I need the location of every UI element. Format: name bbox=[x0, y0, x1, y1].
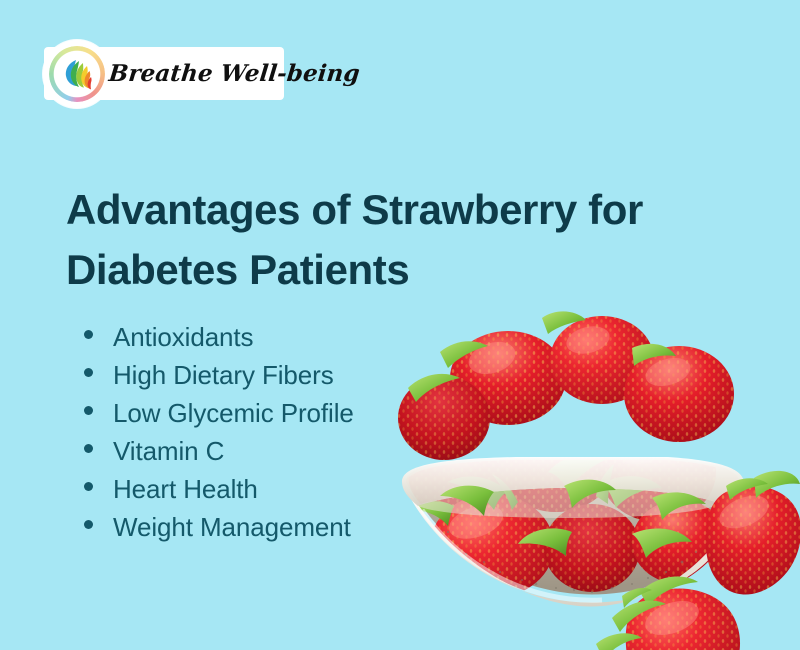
page-title-line-2: Diabetes Patients bbox=[66, 240, 726, 300]
bullet-dot-icon bbox=[84, 330, 93, 339]
page-title-line-1: Advantages of Strawberry for bbox=[66, 180, 726, 240]
list-item-label: Weight Management bbox=[113, 512, 351, 543]
logo-badge bbox=[43, 40, 111, 108]
strawberry-cluster-back bbox=[398, 316, 734, 460]
list-item: Weight Management bbox=[84, 512, 354, 550]
infographic-poster: Breathe Well-being Advantages of Strawbe… bbox=[0, 0, 800, 650]
page-title: Advantages of Strawberry for Diabetes Pa… bbox=[66, 180, 726, 300]
list-item: Vitamin C bbox=[84, 436, 354, 474]
bullet-dot-icon bbox=[84, 368, 93, 377]
list-item: High Dietary Fibers bbox=[84, 360, 354, 398]
bullet-dot-icon bbox=[84, 520, 93, 529]
multicolor-petal-icon bbox=[60, 57, 94, 91]
bullet-dot-icon bbox=[84, 444, 93, 453]
list-item-label: Low Glycemic Profile bbox=[113, 398, 354, 429]
list-item-label: High Dietary Fibers bbox=[113, 360, 334, 391]
list-item-label: Antioxidants bbox=[113, 322, 253, 353]
bowl-of-strawberries-photo bbox=[396, 296, 800, 650]
list-item: Heart Health bbox=[84, 474, 354, 512]
logo-brand-text: Breathe Well-being bbox=[106, 49, 287, 97]
list-item: Low Glycemic Profile bbox=[84, 398, 354, 436]
bullet-dot-icon bbox=[84, 482, 93, 491]
benefits-list: Antioxidants High Dietary Fibers Low Gly… bbox=[84, 322, 354, 550]
list-item-label: Heart Health bbox=[113, 474, 258, 505]
bullet-dot-icon bbox=[84, 406, 93, 415]
list-item-label: Vitamin C bbox=[113, 436, 224, 467]
list-item: Antioxidants bbox=[84, 322, 354, 360]
